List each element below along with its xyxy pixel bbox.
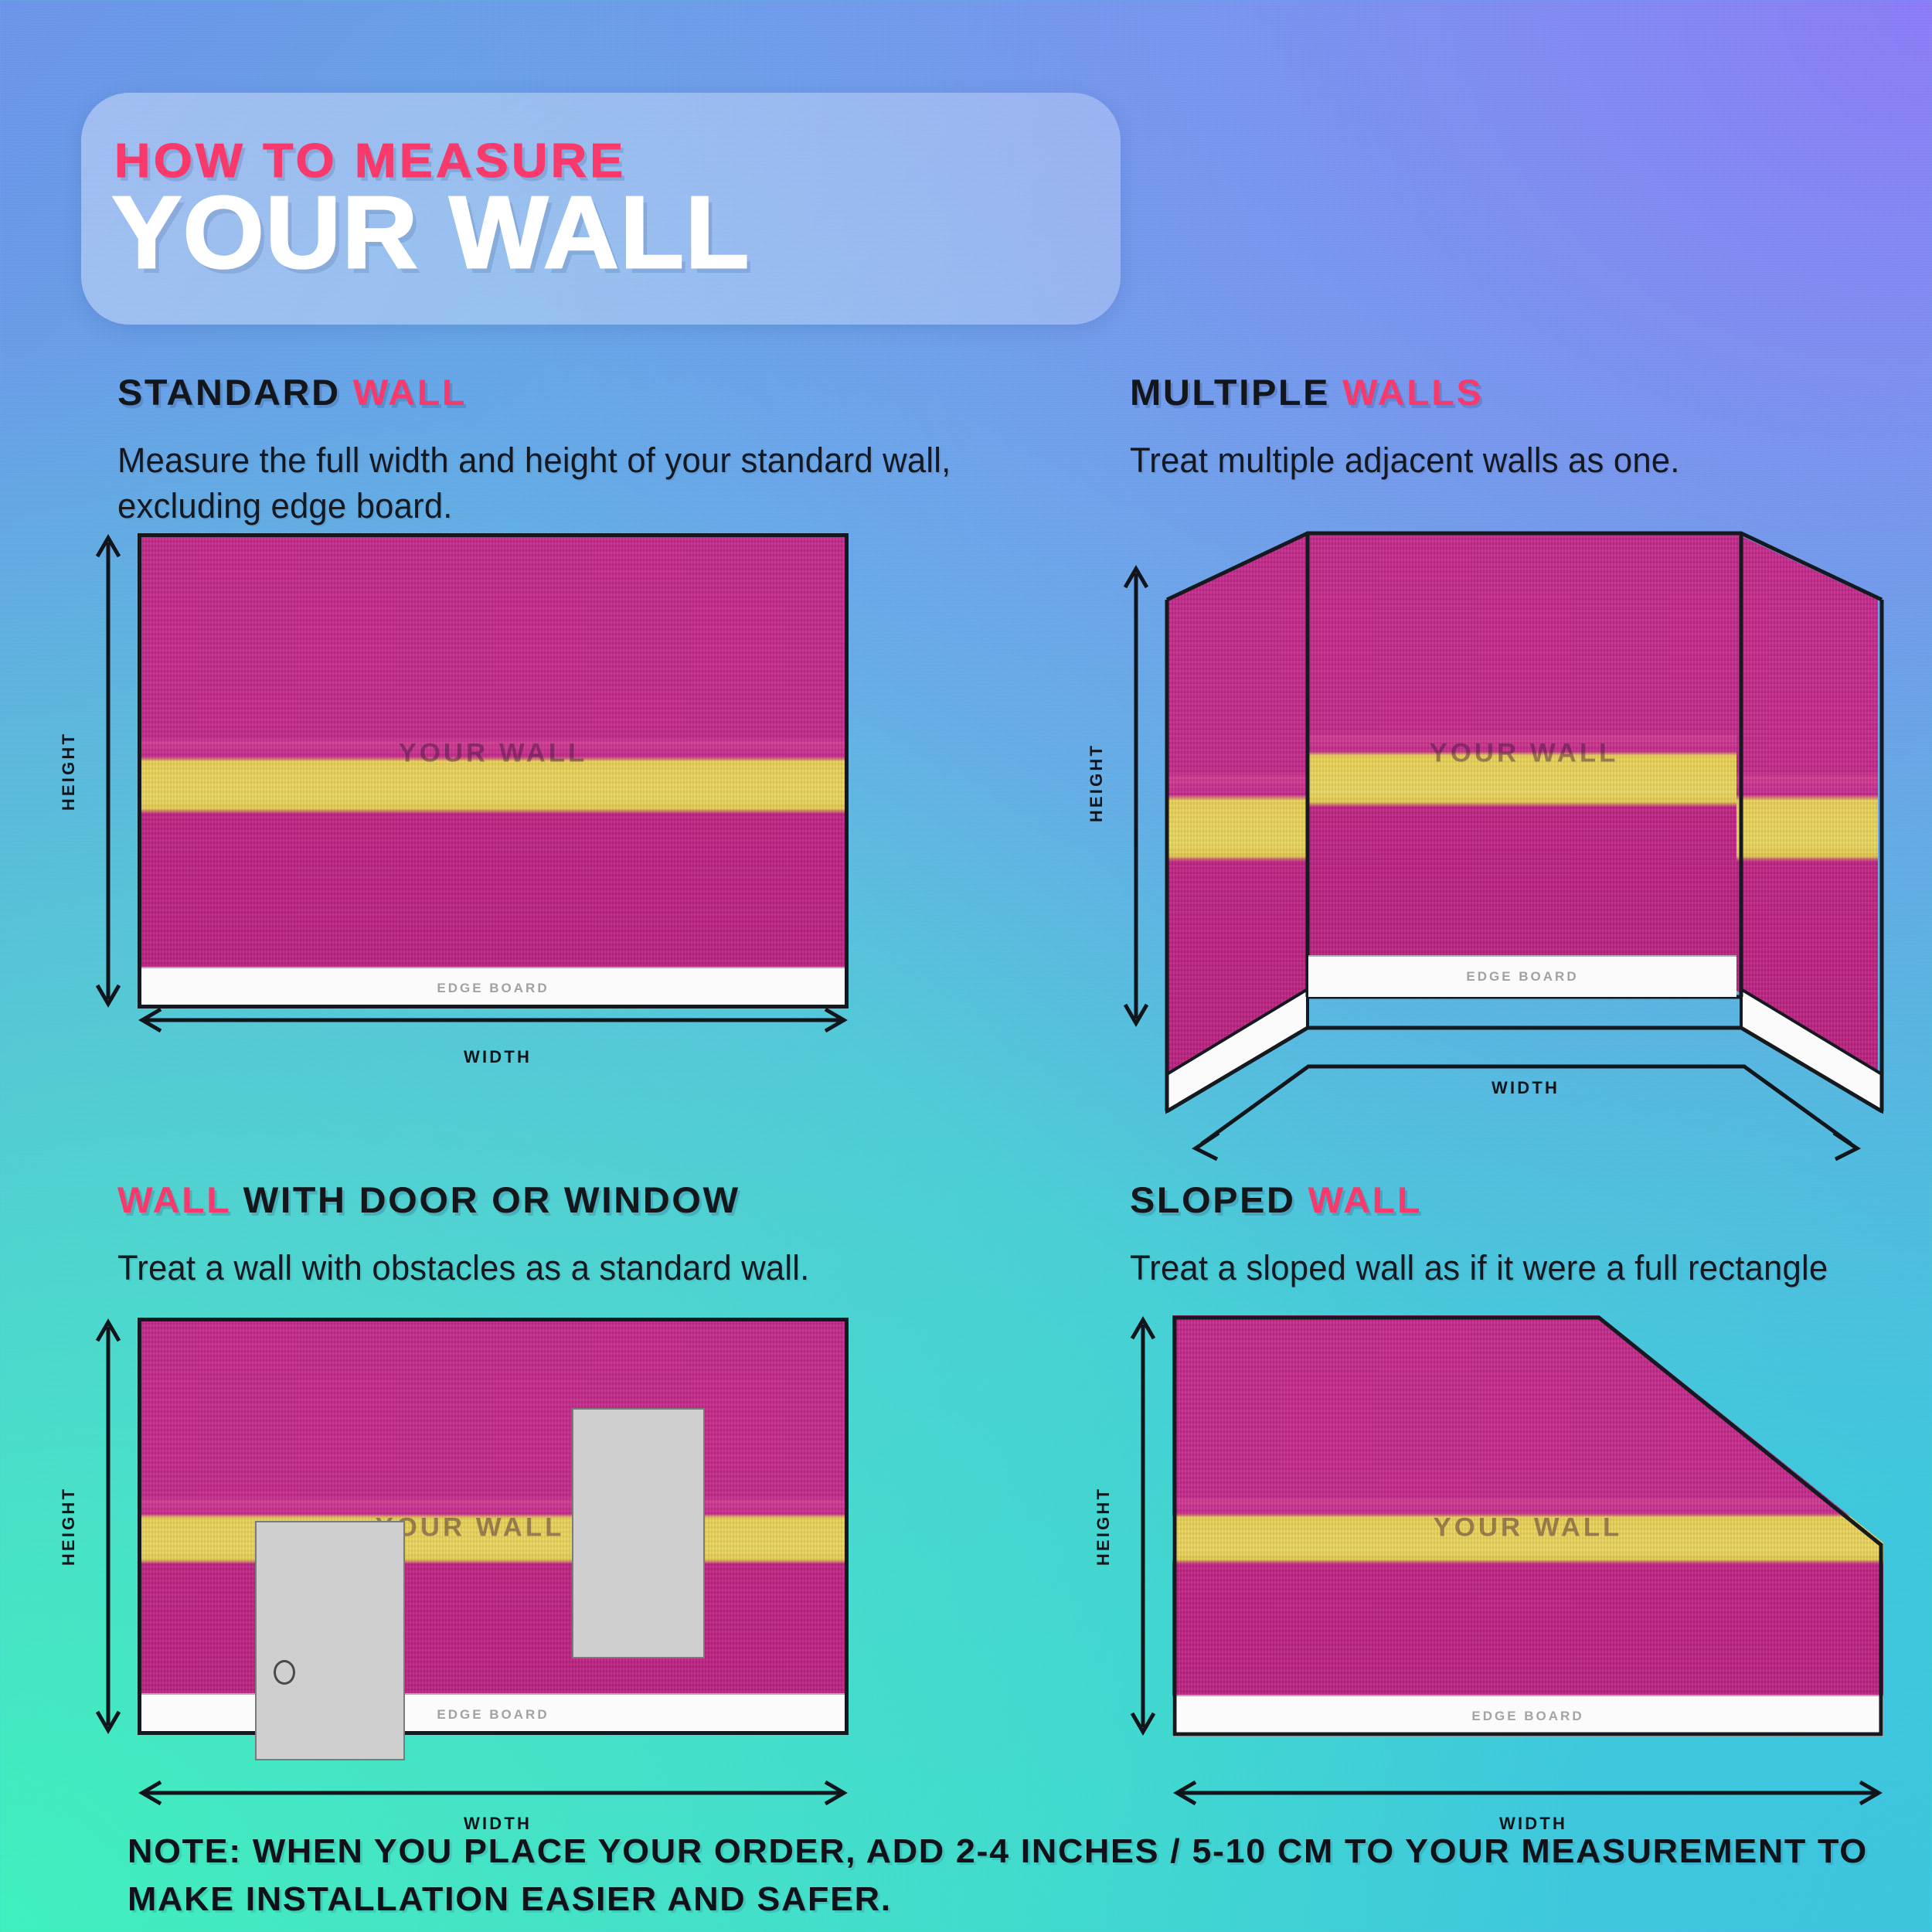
width-arrow: [1172, 1770, 1883, 1816]
height-label: HEIGHT: [1087, 743, 1107, 822]
edge-board-strip: EDGE BOARD: [1308, 955, 1736, 997]
edge-board-label: EDGE BOARD: [437, 1707, 549, 1723]
section-multiple-walls: MULTIPLE WALLS Treat multiple adjacent w…: [1130, 371, 1903, 484]
your-wall-label: YOUR WALL: [1430, 739, 1619, 769]
heading-part-accent: WALL: [117, 1179, 243, 1220]
heading-part-dark: MULTIPLE: [1130, 372, 1342, 413]
door-shape: [255, 1521, 405, 1760]
window-shape: [572, 1408, 705, 1658]
section-description: Measure the full width and height of you…: [117, 438, 957, 529]
width-label: WIDTH: [1492, 1078, 1560, 1098]
height-label: HEIGHT: [1094, 1487, 1114, 1566]
section-sloped-wall: SLOPED WALL Treat a sloped wall as if it…: [1130, 1179, 1918, 1291]
your-wall-label: YOUR WALL: [399, 739, 588, 769]
wall-surface: EDGE BOARD: [138, 533, 849, 1009]
heading-part-dark: STANDARD: [117, 372, 353, 413]
width-label: WIDTH: [464, 1047, 532, 1067]
heading-part-accent: WALLS: [1342, 372, 1483, 413]
page-title: YOUR WALL: [112, 174, 750, 291]
door-knob-icon: [274, 1660, 295, 1685]
section-description: Treat a sloped wall as if it were a full…: [1130, 1246, 1894, 1291]
section-description: Treat a wall with obstacles as a standar…: [117, 1246, 972, 1291]
section-standard-wall: STANDARD WALL Measure the full width and…: [117, 371, 983, 529]
height-arrow: [85, 1318, 131, 1735]
edge-board-strip: EDGE BOARD: [138, 1693, 849, 1735]
heading-part-dark: WITH DOOR OR WINDOW: [243, 1179, 740, 1220]
heading-part-accent: WALL: [353, 372, 467, 413]
section-description: Treat multiple adjacent walls as one.: [1130, 438, 1879, 484]
heading-part-dark: SLOPED: [1130, 1179, 1308, 1220]
footer-note: NOTE: WHEN YOU PLACE YOUR ORDER, ADD 2-4…: [128, 1828, 1869, 1924]
edge-board-label: EDGE BOARD: [1466, 969, 1578, 985]
edge-board-label: EDGE BOARD: [437, 981, 549, 996]
height-label: HEIGHT: [59, 1487, 79, 1566]
width-arrow: [138, 1770, 849, 1816]
section-heading: MULTIPLE WALLS: [1130, 371, 1926, 413]
section-heading: WALL WITH DOOR OR WINDOW: [117, 1179, 1025, 1221]
section-heading: STANDARD WALL: [117, 371, 1009, 413]
your-wall-label: YOUR WALL: [1434, 1513, 1623, 1543]
height-label: HEIGHT: [59, 732, 79, 811]
edge-board-strip: EDGE BOARD: [138, 967, 849, 1009]
section-wall-with-door-or-window: WALL WITH DOOR OR WINDOW Treat a wall wi…: [117, 1179, 998, 1291]
heading-part-accent: WALL: [1308, 1179, 1422, 1220]
section-heading: SLOPED WALL: [1130, 1179, 1932, 1221]
height-arrow: [1120, 1315, 1166, 1736]
height-arrow: [85, 533, 131, 1009]
height-arrow: [1113, 564, 1159, 1028]
